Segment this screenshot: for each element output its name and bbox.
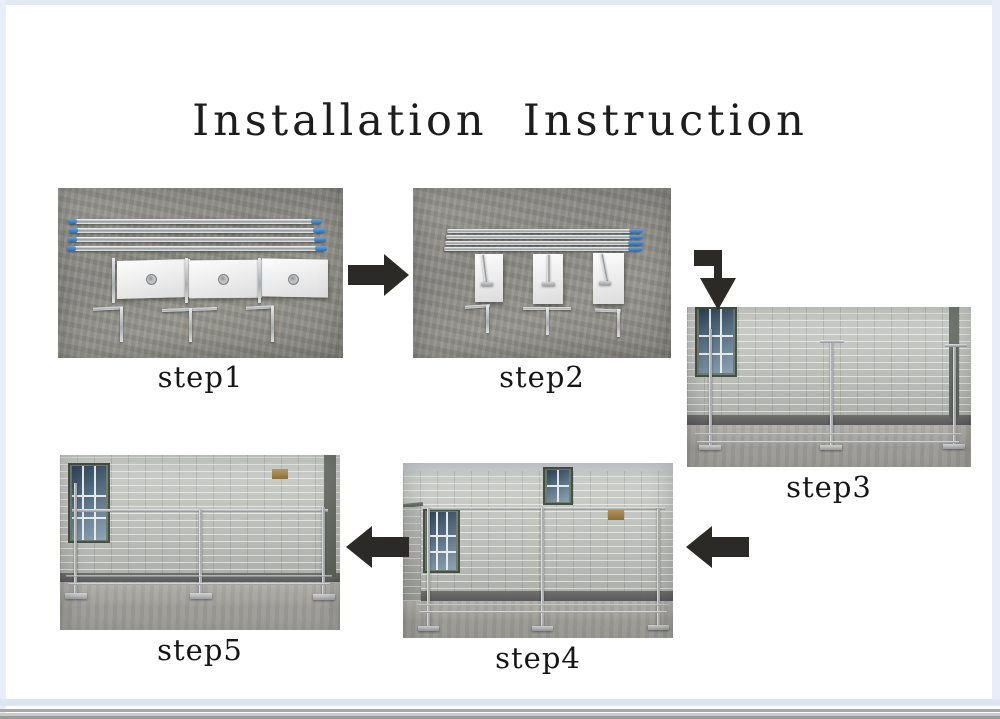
step-panel-step5: step5 [60,455,340,630]
arrow-left-icon-step4-to-step5 [344,524,410,570]
step1-caption: step1 [58,360,343,394]
arrow-left-icon-step3-to-step4 [684,524,750,570]
viewer-chrome-bar-top [0,709,1000,712]
step1-photo [58,188,343,358]
step4-caption: step4 [403,641,673,675]
step4-photo [403,463,673,638]
step3-caption: step3 [687,470,971,504]
step-panel-step2: step2 [413,188,671,358]
step-panel-step3: step3 [687,307,971,467]
arrow-right-icon-step1-to-step2 [348,252,410,298]
step2-photo [413,188,671,358]
frame-edge-top [0,0,1000,5]
page-frame: Installation Instruction [0,0,1000,719]
frame-edge-bottom [0,699,1000,706]
arrow-down-bent-icon-step2-to-step3 [686,248,752,312]
step5-photo [60,455,340,630]
step-panel-step1: step1 [58,188,343,358]
step3-photo [687,307,971,467]
step-panel-step4: step4 [403,463,673,638]
step5-caption: step5 [60,633,340,667]
step2-caption: step2 [413,360,671,394]
page-title: Installation Instruction [0,96,1000,146]
